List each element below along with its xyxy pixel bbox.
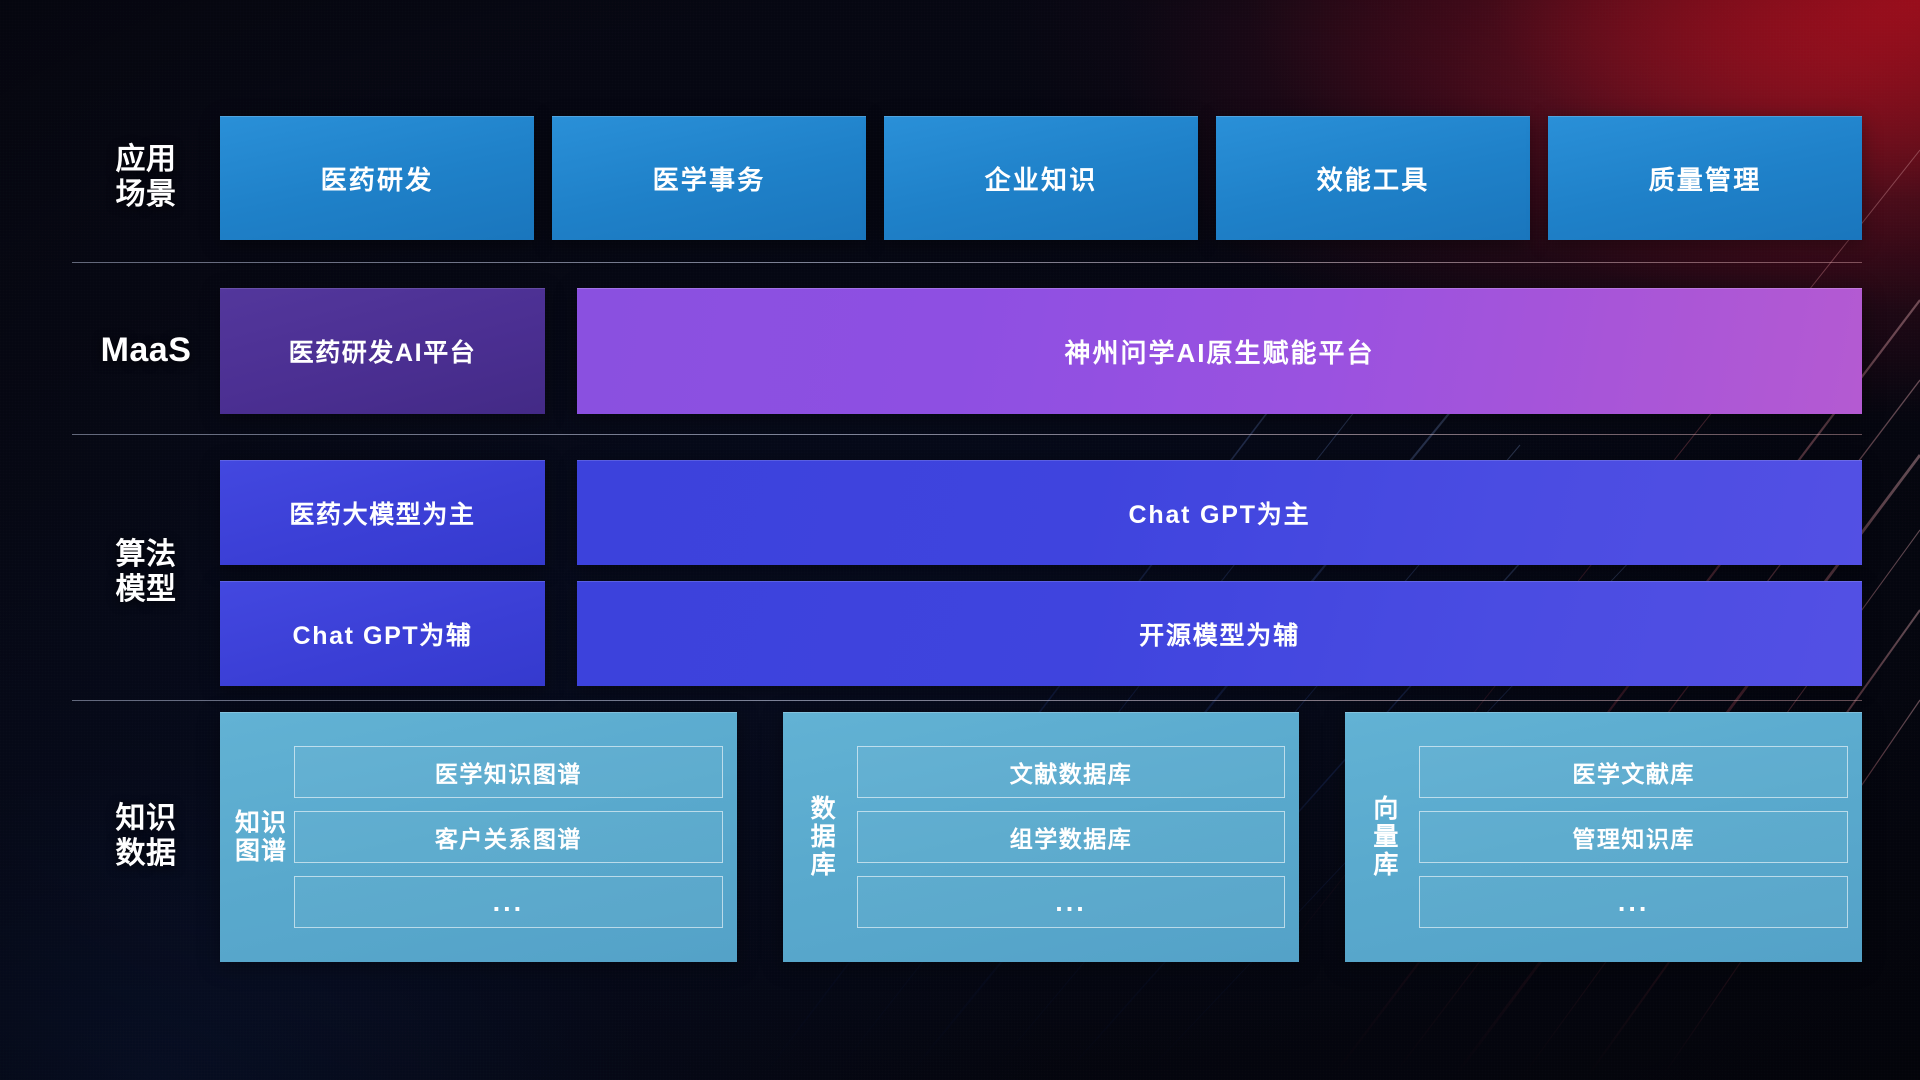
knowledge-group-label-knowledge-graph: 知识 图谱 xyxy=(228,726,294,948)
app-card-medical-affairs[interactable]: 医学事务 xyxy=(552,116,866,240)
algorithm-line-primary: 医药大模型为主 Chat GPT为主 xyxy=(220,460,1862,565)
algorithm-line-secondary: Chat GPT为辅 开源模型为辅 xyxy=(220,581,1862,686)
knowledge-group-label-vector-store: 向 量 库 xyxy=(1353,726,1419,948)
algo-card-chatgpt-primary[interactable]: Chat GPT为主 xyxy=(577,460,1862,565)
app-card-efficiency-tools[interactable]: 效能工具 xyxy=(1216,116,1530,240)
knowledge-group-list: 知识 图谱 医学知识图谱 客户关系图谱 ... 数 据 库 文献数据库 组学数据… xyxy=(220,712,1862,962)
row-knowledge-data: 知识 数据 知识 图谱 医学知识图谱 客户关系图谱 ... 数 据 库 文献数据… xyxy=(72,712,1862,962)
knowledge-group-knowledge-graph[interactable]: 知识 图谱 医学知识图谱 客户关系图谱 ... xyxy=(220,712,737,962)
knowledge-group-database[interactable]: 数 据 库 文献数据库 组学数据库 ... xyxy=(783,712,1300,962)
knowledge-chip-medical-literature-store[interactable]: 医学文献库 xyxy=(1419,746,1848,798)
knowledge-chip-customer-relation-graph[interactable]: 客户关系图谱 xyxy=(294,811,723,863)
knowledge-group-label-database: 数 据 库 xyxy=(791,726,857,948)
knowledge-chip-more-database[interactable]: ... xyxy=(857,876,1286,928)
knowledge-chip-management-knowledge-store[interactable]: 管理知识库 xyxy=(1419,811,1848,863)
maas-card-medicine-ai-platform[interactable]: 医药研发AI平台 xyxy=(220,288,545,414)
knowledge-item-list-vector-store: 医学文献库 管理知识库 ... xyxy=(1419,726,1848,948)
app-card-enterprise-knowledge[interactable]: 企业知识 xyxy=(884,116,1198,240)
knowledge-group-vector-store[interactable]: 向 量 库 医学文献库 管理知识库 ... xyxy=(1345,712,1862,962)
algo-card-opensource-secondary[interactable]: 开源模型为辅 xyxy=(577,581,1862,686)
row-algorithm-models: 算法 模型 医药大模型为主 Chat GPT为主 Chat GPT为辅 开源模型… xyxy=(72,460,1862,686)
maas-card-list: 医药研发AI平台 神州问学AI原生赋能平台 xyxy=(220,288,1862,414)
knowledge-item-list-knowledge-graph: 医学知识图谱 客户关系图谱 ... xyxy=(294,726,723,948)
row-label-maas: MaaS xyxy=(72,331,220,370)
row-label-application: 应用 场景 xyxy=(72,143,220,213)
app-card-medicine-rd[interactable]: 医药研发 xyxy=(220,116,534,240)
row-label-algorithm: 算法 模型 xyxy=(72,538,220,608)
architecture-diagram: 应用 场景 医药研发 医学事务 企业知识 效能工具 质量管理 MaaS 医药研发… xyxy=(0,0,1920,1080)
maas-card-shenzhou-wenxue-platform[interactable]: 神州问学AI原生赋能平台 xyxy=(577,288,1862,414)
divider-algorithm-knowledge xyxy=(72,700,1862,701)
divider-application-maas xyxy=(72,262,1862,263)
app-card-quality-management[interactable]: 质量管理 xyxy=(1548,116,1862,240)
algo-card-chatgpt-secondary[interactable]: Chat GPT为辅 xyxy=(220,581,545,686)
row-application-scenarios: 应用 场景 医药研发 医学事务 企业知识 效能工具 质量管理 xyxy=(72,116,1862,240)
row-label-knowledge: 知识 数据 xyxy=(72,802,220,872)
knowledge-item-list-database: 文献数据库 组学数据库 ... xyxy=(857,726,1286,948)
divider-maas-algorithm xyxy=(72,434,1862,435)
knowledge-chip-more-knowledge-graph[interactable]: ... xyxy=(294,876,723,928)
algorithm-card-list: 医药大模型为主 Chat GPT为主 Chat GPT为辅 开源模型为辅 xyxy=(220,460,1862,686)
algo-card-pharma-llm-primary[interactable]: 医药大模型为主 xyxy=(220,460,545,565)
knowledge-chip-medical-knowledge-graph[interactable]: 医学知识图谱 xyxy=(294,746,723,798)
row-maas: MaaS 医药研发AI平台 神州问学AI原生赋能平台 xyxy=(72,288,1862,414)
knowledge-chip-literature-database[interactable]: 文献数据库 xyxy=(857,746,1286,798)
knowledge-chip-more-vector-store[interactable]: ... xyxy=(1419,876,1848,928)
application-card-list: 医药研发 医学事务 企业知识 效能工具 质量管理 xyxy=(220,116,1862,240)
knowledge-chip-omics-database[interactable]: 组学数据库 xyxy=(857,811,1286,863)
